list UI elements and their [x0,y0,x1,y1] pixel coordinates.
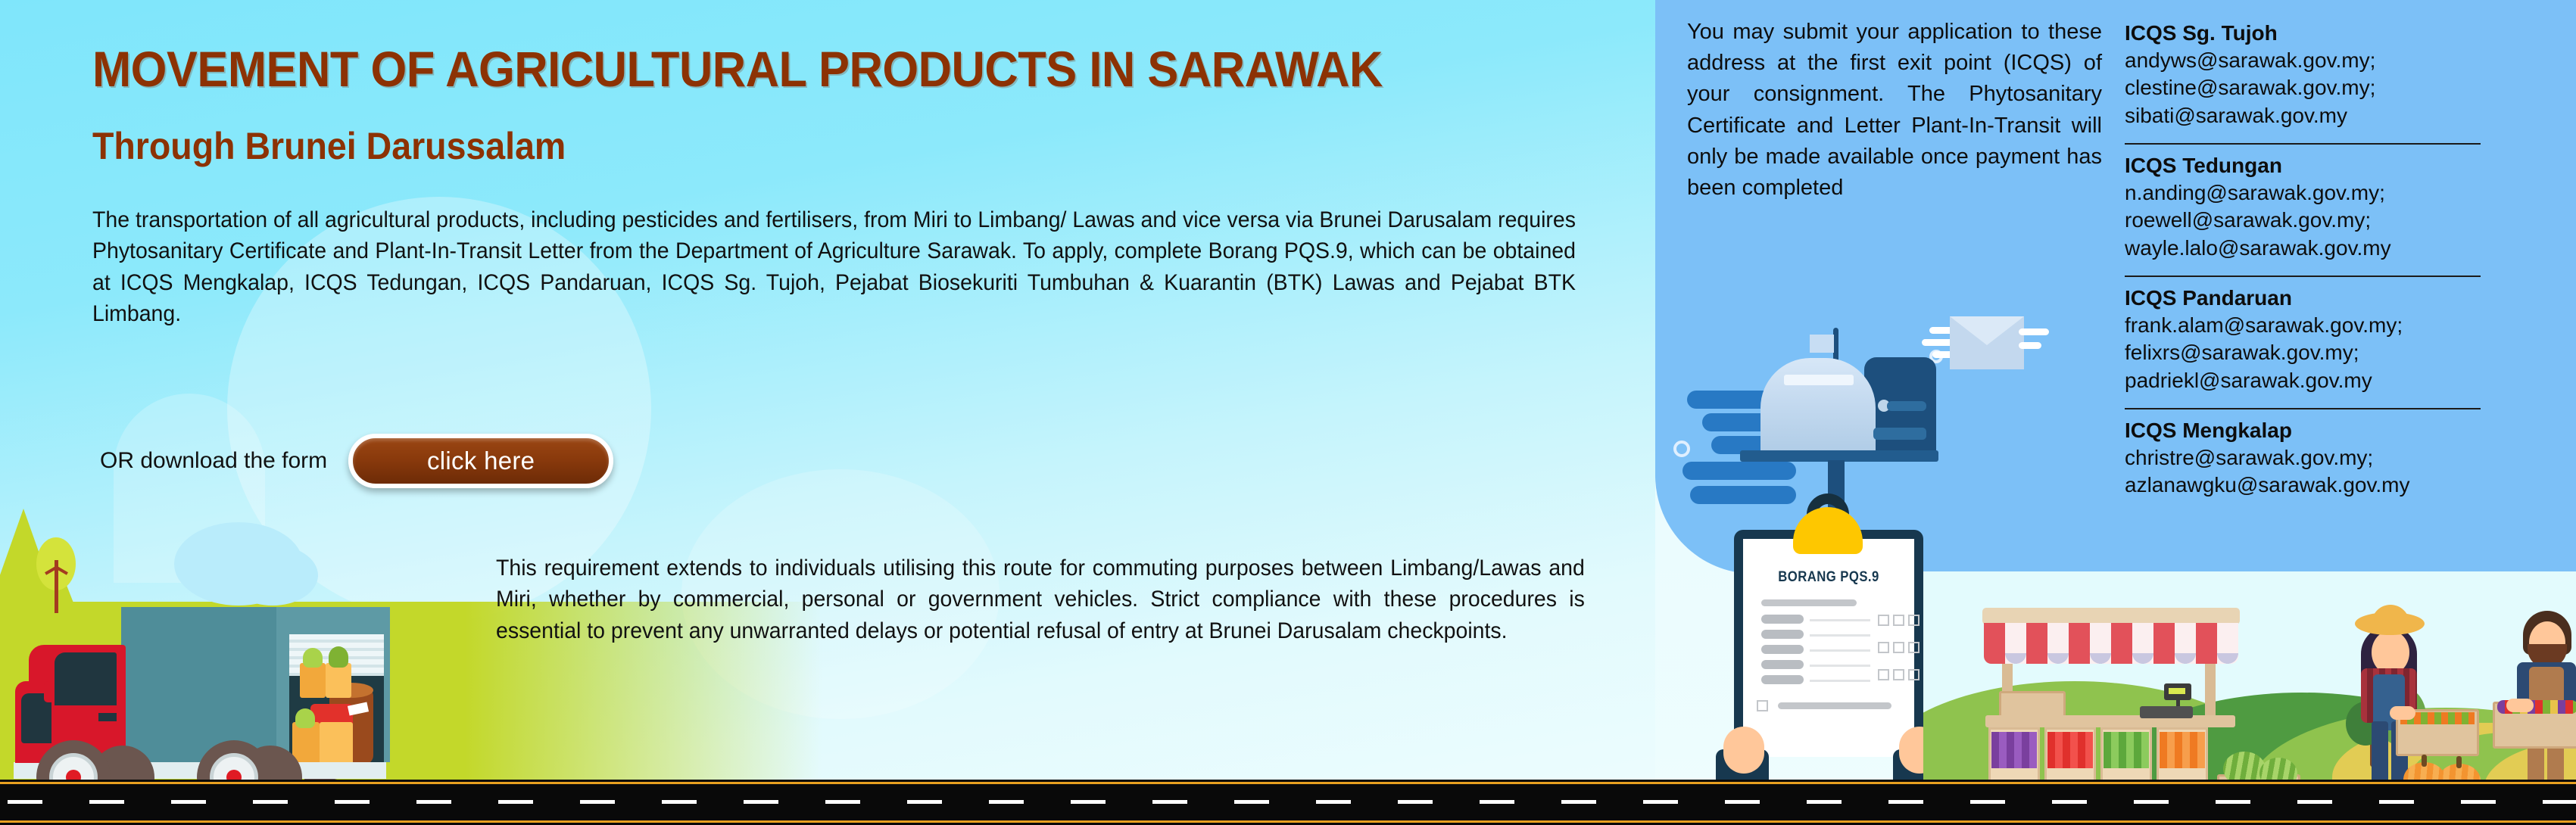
form-rule [1810,634,1870,637]
road-dash [2379,800,2414,804]
icqs-office-list: ICQS Sg. Tujoh andyws@sarawak.gov.my; cl… [2125,20,2481,513]
road-dash [825,800,860,804]
form-checkbox [1878,669,1889,680]
form-rule [1810,680,1870,682]
icqs-office-block: ICQS Pandaruan frank.alam@sarawak.gov.my… [2125,276,2481,401]
road-dash [1643,800,1678,804]
road-dash [1480,800,1514,804]
cloud-icon [227,545,318,606]
road-dash [1807,800,1842,804]
arm [2390,706,2415,720]
road-dash [989,800,1024,804]
stall-awning-scallop [1984,653,2238,673]
leg [2372,721,2388,788]
form-checkbox [1893,669,1904,680]
icqs-email[interactable]: christre@sarawak.gov.my; [2125,444,2481,472]
road-dash [89,800,124,804]
pumpkin-stem [2456,756,2462,768]
page-title: MOVEMENT OF AGRICULTURAL PRODUCTS IN SAR… [92,44,1383,94]
road-edge-line [0,820,2576,823]
hand [1723,727,1764,774]
mailbox-slot [1784,375,1854,385]
form-line [1778,702,1891,709]
road-dash [1152,800,1187,804]
form-checkbox [1757,700,1768,711]
body-paragraph-2: This requirement extends to individuals … [496,553,1585,646]
tomato-row [2047,732,2093,768]
truck-mirror [44,681,55,702]
infographic-poster: MOVEMENT OF AGRICULTURAL PRODUCTS IN SAR… [0,0,2576,825]
road-dash [744,800,778,804]
road-dash [1725,800,1760,804]
road-dash [2461,800,2496,804]
form-checkbox [1878,615,1889,626]
padlock-icon [1793,507,1863,554]
road-dash [498,800,533,804]
road-edge-line [0,782,2576,784]
truck-window [55,652,117,705]
form-line [1761,599,1857,606]
road-dash [1970,800,2005,804]
icqs-email[interactable]: felixrs@sarawak.gov.my; [2125,339,2481,366]
icqs-office-block: ICQS Tedungan n.anding@sarawak.gov.my; r… [2125,143,2481,269]
stall-awning-bar [1982,608,2240,624]
icqs-email[interactable]: azlanawgku@sarawak.gov.my [2125,472,2481,499]
weighing-scale [2140,706,2193,718]
road-dash [253,800,288,804]
truck-door-handle [98,713,117,721]
submission-instructions: You may submit your application to these… [1687,17,2102,204]
form-checkbox [1908,669,1920,680]
icqs-office-block: ICQS Mengkalap christre@sarawak.gov.my; … [2125,408,2481,506]
icqs-email[interactable]: andyws@sarawak.gov.my; [2125,47,2481,74]
road-dash [1888,800,1923,804]
form-rule [1810,619,1870,621]
form-field-label [1761,675,1804,684]
road-dash [2543,800,2576,804]
produce-crate [300,663,326,698]
mailbox-flag [1810,335,1834,353]
lettuce-icon [329,646,348,668]
stall-counter-top [1985,715,2235,727]
road-dash [1316,800,1351,804]
road-dash [580,800,615,804]
speed-line [1690,486,1796,504]
icqs-email[interactable]: frank.alam@sarawak.gov.my; [2125,312,2481,339]
form-checkbox [1893,615,1904,626]
form-checkbox [1908,615,1920,626]
road-dash [2134,800,2169,804]
form-field-label [1761,660,1804,669]
icqs-email[interactable]: n.anding@sarawak.gov.my; [2125,179,2481,207]
road-dash [416,800,451,804]
arm [2506,699,2534,712]
cabbage-row [2104,732,2149,768]
form-rule [1810,665,1870,667]
page-subtitle: Through Brunei Darussalam [92,127,566,165]
icqs-email[interactable]: roewell@sarawak.gov.my; [2125,207,2481,234]
icqs-email[interactable]: sibati@sarawak.gov.my [2125,102,2481,129]
form-field-label [1761,630,1804,639]
icqs-office-name: ICQS Tedungan [2125,152,2481,179]
road-dash [335,800,370,804]
lettuce-icon [295,708,315,728]
download-row: OR download the form click here [100,434,613,488]
road-dash [662,800,697,804]
road-dash [907,800,942,804]
icqs-email[interactable]: wayle.lalo@sarawak.gov.my [2125,235,2481,262]
mailbox-bar [1873,428,1926,440]
road-dash [1561,800,1596,804]
produce-crate [320,722,353,764]
road-dash [2216,800,2250,804]
form-checkbox [1878,642,1889,653]
icqs-office-name: ICQS Pandaruan [2125,285,2481,312]
speed-line [1683,462,1796,480]
form-title: BORANG PQS.9 [1754,569,1904,586]
road-dash [2297,800,2332,804]
lettuce-icon [303,648,323,668]
carrot-row [2160,732,2205,768]
pumpkin-stem [2422,755,2427,767]
form-checkbox [1908,642,1920,653]
road-dash [1398,800,1433,804]
mailbox-body [1760,358,1876,450]
form-field-label [1761,645,1804,654]
icqs-office-name: ICQS Mengkalap [2125,417,2481,444]
mailbox-bar [1887,401,1926,411]
road [0,780,2576,825]
road-dash [1234,800,1269,804]
icqs-email[interactable]: clestine@sarawak.gov.my; [2125,74,2481,101]
eggplant-row [1991,732,2037,768]
icqs-office-block: ICQS Sg. Tujoh andyws@sarawak.gov.my; cl… [2125,20,2481,136]
body-paragraph-1: The transportation of all agricultural p… [92,204,1576,329]
decorative-ring [1673,441,1690,457]
icqs-office-name: ICQS Sg. Tujoh [2125,20,2481,47]
road-dash [2052,800,2087,804]
click-here-button[interactable]: click here [348,434,613,488]
form-field-label [1761,615,1804,624]
produce-crate [292,722,320,764]
icqs-email[interactable]: padriekl@sarawak.gov.my [2125,367,2481,394]
download-label: OR download the form [100,448,327,474]
road-dash [1071,800,1106,804]
scale-screen [2169,688,2185,694]
produce-crate [326,663,351,698]
speed-line [2019,328,2049,335]
road-dash [8,800,42,804]
speed-line [2019,342,2041,349]
form-rule [1810,649,1870,652]
envelope-flap [1950,316,2024,345]
road-dash [171,800,206,804]
form-checkbox [1893,642,1904,653]
